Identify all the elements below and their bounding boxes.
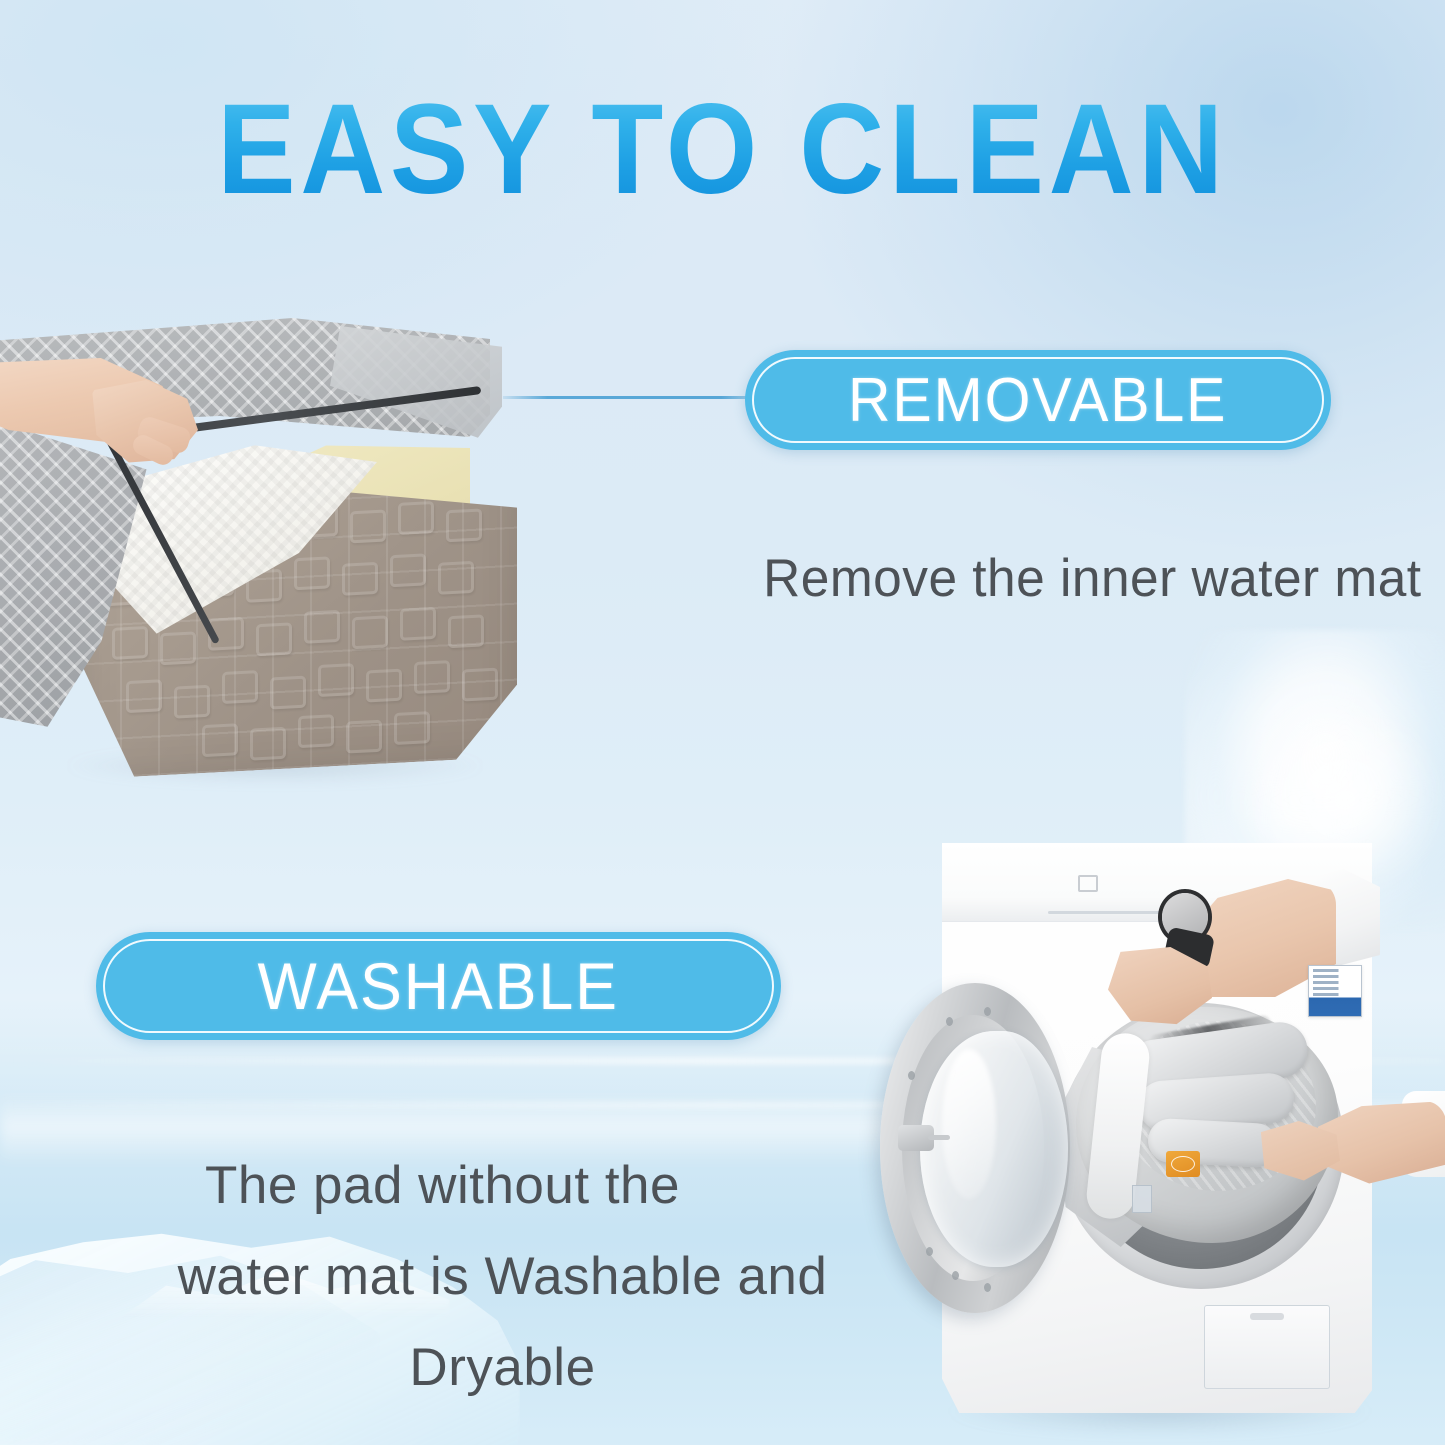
washer-energy-label (1308, 965, 1362, 1017)
washer-door-vent (926, 1247, 933, 1256)
label-row (1313, 981, 1357, 984)
washer-barcode-sticker (1132, 1185, 1152, 1213)
label-row (1313, 993, 1357, 996)
badge-removable-label: REMOVABLE (848, 365, 1227, 436)
page-title: EASY TO CLEAN (58, 86, 1387, 214)
photo-washing-machine (880, 835, 1445, 1445)
badge-removable[interactable]: REMOVABLE (745, 350, 1331, 450)
washer-brand-icon (1078, 875, 1098, 892)
washer-door-vent (984, 1007, 991, 1016)
caption-washable-line-2: water mat is Washable and Dryable (120, 1231, 885, 1413)
washer-panel-divider (1048, 911, 1160, 914)
washer-door-vent (946, 1017, 953, 1026)
caption-washable: The pad without the water mat is Washabl… (0, 1140, 885, 1413)
label-row (1313, 969, 1357, 972)
label-row (1313, 987, 1357, 990)
caption-washable-line-1: The pad without the (0, 1140, 885, 1231)
photo-removable-cover (0, 318, 535, 788)
washer-filter-drawer-handle[interactable] (1250, 1313, 1284, 1320)
washer-door-latch-pin (928, 1135, 950, 1140)
product-infographic: EASY TO CLEAN (0, 0, 1445, 1445)
callout-leader-line (503, 396, 751, 399)
caption-removable: Remove the inner water mat (763, 548, 1421, 609)
washer-door-vent (984, 1283, 991, 1292)
washer-door-vent (908, 1071, 915, 1080)
badge-washable[interactable]: WASHABLE (96, 932, 781, 1040)
washer-door-glass-highlight (942, 1049, 996, 1199)
label-row (1313, 975, 1357, 978)
washer-door-vent (952, 1271, 959, 1280)
badge-washable-label: WASHABLE (258, 948, 619, 1024)
washer-warning-sticker (1166, 1151, 1200, 1177)
